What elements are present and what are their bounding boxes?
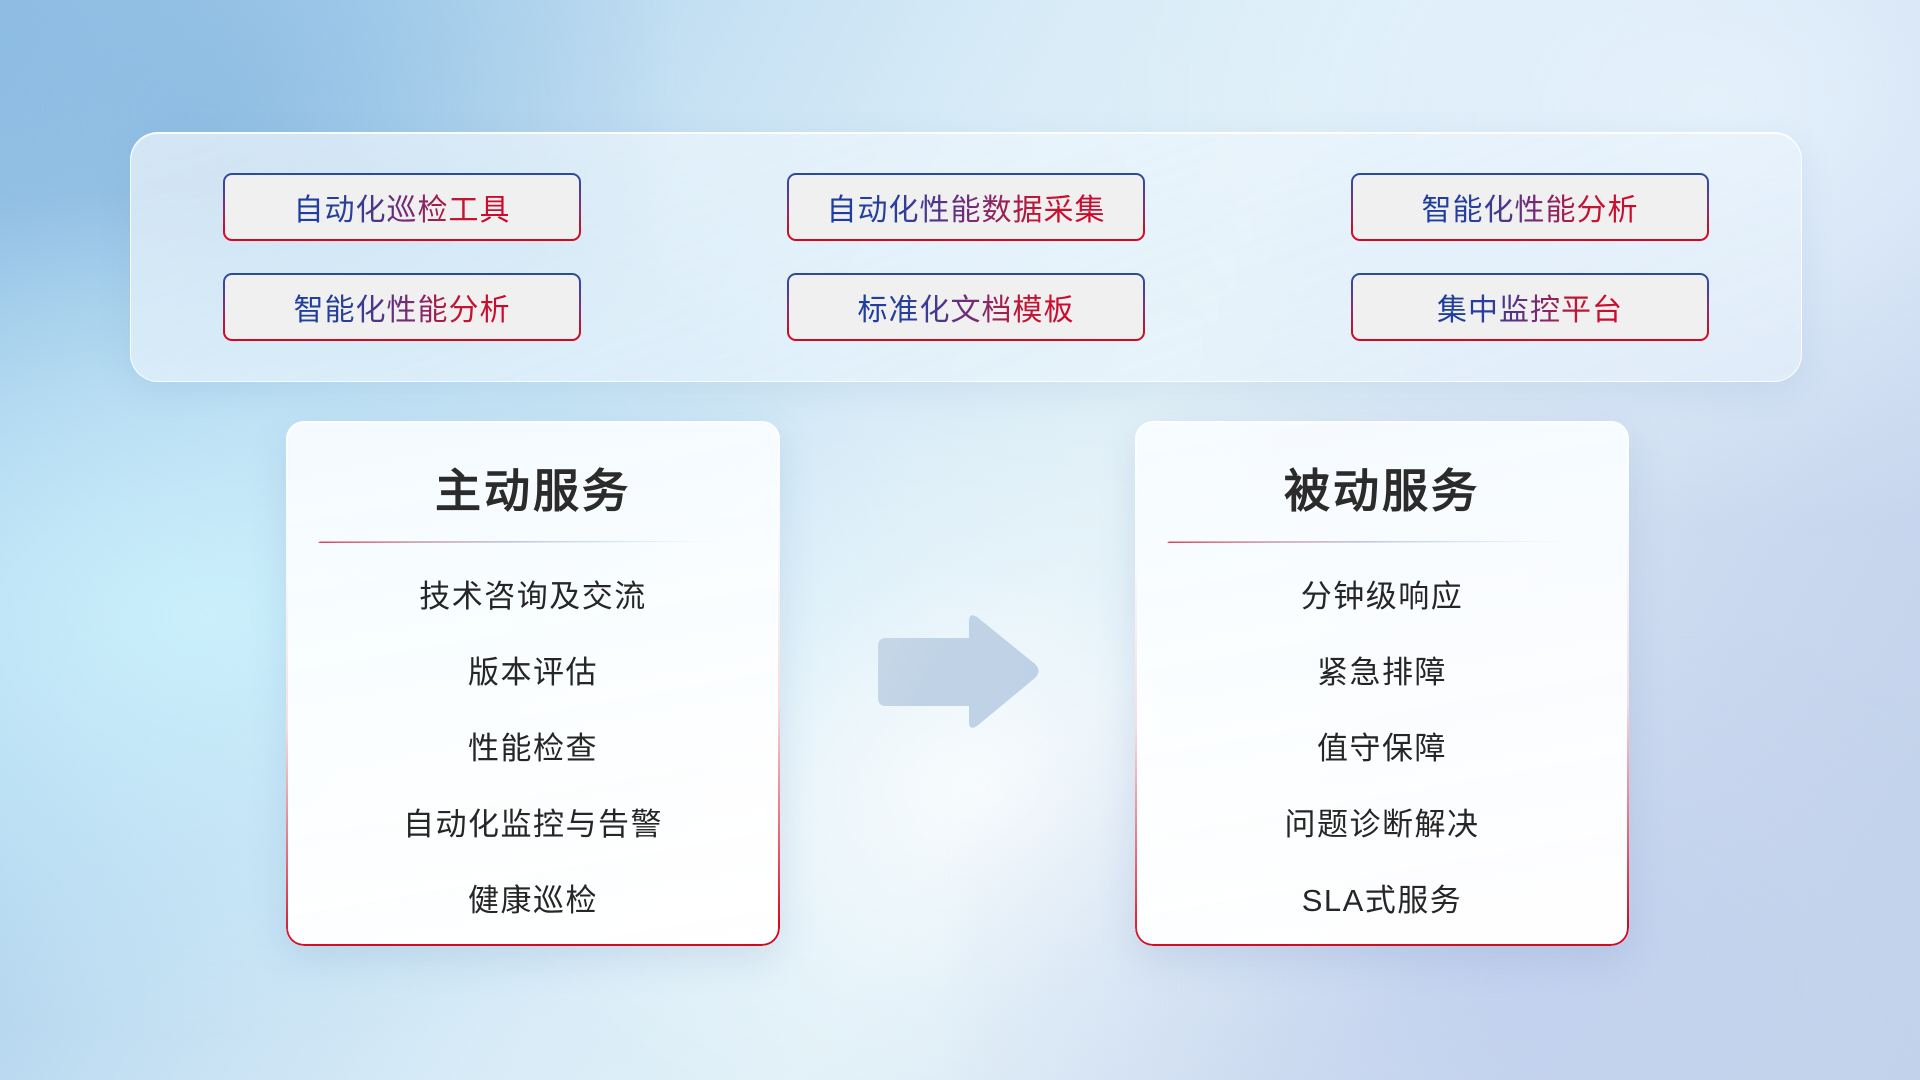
list-item: 性能检查 (468, 723, 598, 768)
flow-arrow-right-svg (872, 612, 1042, 732)
list-item: 分钟级响应 (1301, 571, 1464, 616)
list-item: SLA式服务 (1302, 875, 1463, 920)
capability-pill-label: 自动化性能数据采集 (827, 185, 1106, 229)
service-card-proactive[interactable]: 主动服务 技术咨询及交流 版本评估 (286, 421, 780, 946)
capability-row-2: 智能化性能分析 标准化文档模板 集中监控平台 (223, 273, 1709, 341)
capability-pill-label: 自动化巡检工具 (294, 185, 511, 229)
capability-pill-label: 标准化文档模板 (858, 285, 1075, 329)
card-item-list: 分钟级响应 紧急排障 值守保障 问题诊断解决 SLA式服务 (1161, 571, 1603, 920)
card-title: 被动服务 (1284, 455, 1480, 521)
list-item: 问题诊断解决 (1285, 799, 1480, 844)
card-divider-icon (1167, 541, 1597, 543)
capability-pill-intelligent-perf-analysis-2[interactable]: 智能化性能分析 (223, 273, 581, 341)
capability-pill-label: 智能化性能分析 (294, 285, 511, 329)
card-divider-icon (318, 541, 748, 543)
capability-row-1: 自动化巡检工具 自动化性能数据采集 智能化性能分析 (223, 173, 1709, 241)
list-item: 紧急排障 (1317, 647, 1447, 692)
card-title: 主动服务 (435, 455, 631, 521)
capability-pill-auto-inspection-tool[interactable]: 自动化巡检工具 (223, 173, 581, 241)
capability-pill-auto-perf-data-collection[interactable]: 自动化性能数据采集 (787, 173, 1145, 241)
list-item: 技术咨询及交流 (419, 571, 647, 616)
diagram-stage: 自动化巡检工具 自动化性能数据采集 智能化性能分析 智能化性能分析 标准化文档模… (0, 0, 1920, 1080)
flow-arrow-right-icon (872, 612, 1042, 732)
capability-pill-label: 智能化性能分析 (1422, 185, 1639, 229)
capability-pill-label: 集中监控平台 (1437, 285, 1623, 329)
card-item-list: 技术咨询及交流 版本评估 性能检查 自动化监控与告警 健康巡检 (312, 571, 754, 920)
list-item: 版本评估 (468, 647, 598, 692)
card-divider (1167, 541, 1597, 543)
list-item: 健康巡检 (468, 875, 598, 920)
service-card-reactive[interactable]: 被动服务 分钟级响应 紧急排障 (1135, 421, 1629, 946)
card-divider (318, 541, 748, 543)
capability-pill-intelligent-perf-analysis-1[interactable]: 智能化性能分析 (1351, 173, 1709, 241)
list-item: 值守保障 (1317, 723, 1447, 768)
capability-pill-centralized-monitoring[interactable]: 集中监控平台 (1351, 273, 1709, 341)
capability-panel: 自动化巡检工具 自动化性能数据采集 智能化性能分析 智能化性能分析 标准化文档模… (130, 132, 1802, 382)
list-item: 自动化监控与告警 (403, 799, 663, 844)
capability-pill-standard-doc-template[interactable]: 标准化文档模板 (787, 273, 1145, 341)
